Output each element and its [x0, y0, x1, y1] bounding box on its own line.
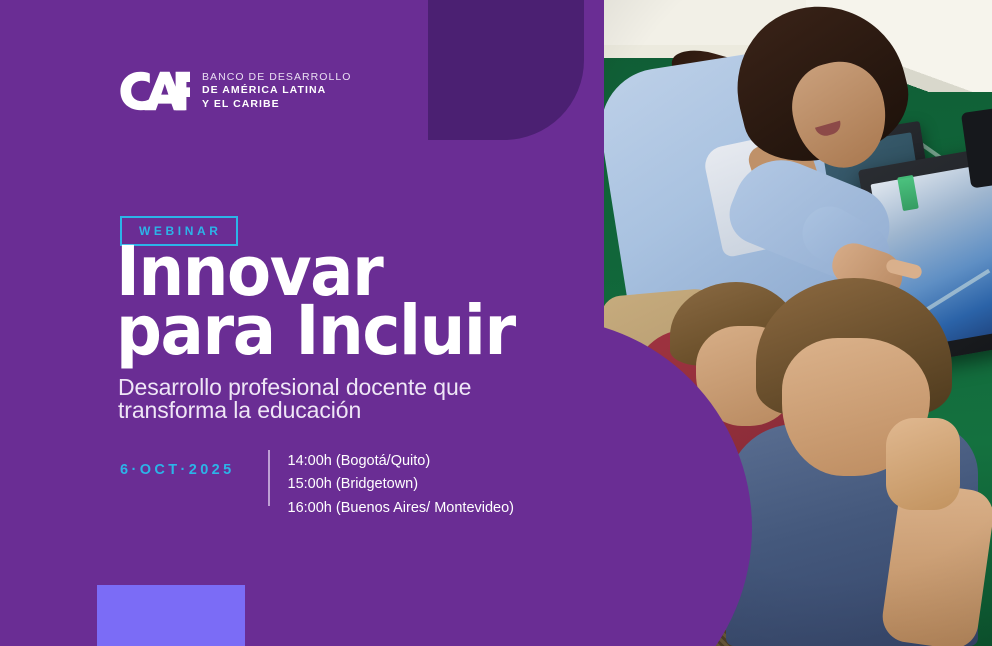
caf-logo-line-2: DE AMÉRICA LATINA — [202, 84, 351, 97]
webinar-promo-banner: BANCO DE DESARROLLO DE AMÉRICA LATINA Y … — [0, 0, 992, 646]
caf-logo-text: BANCO DE DESARROLLO DE AMÉRICA LATINA Y … — [202, 71, 351, 111]
page-title: Innovar para Incluir — [116, 243, 515, 362]
subtitle-line-2: transforma la educación — [118, 399, 471, 422]
subtitle-line-1: Desarrollo profesional docente que — [118, 376, 471, 399]
event-date: 6·OCT·2025 — [120, 450, 268, 478]
caf-logo-line-3: Y EL CARIBE — [202, 98, 351, 111]
timezone-list: 14:00h (Bogotá/Quito) 15:00h (Bridgetown… — [288, 450, 515, 520]
decorative-shape-periwinkle — [97, 585, 245, 646]
timezone-line-1: 14:00h (Bogotá/Quito) — [288, 450, 515, 473]
timezone-line-3: 16:00h (Buenos Aires/ Montevideo) — [288, 497, 515, 520]
caf-logo: BANCO DE DESARROLLO DE AMÉRICA LATINA Y … — [118, 70, 351, 112]
title-line-2: para Incluir — [116, 302, 515, 361]
caf-logo-line-1: BANCO DE DESARROLLO — [202, 71, 351, 84]
classroom-photo — [604, 0, 992, 646]
decorative-shape-dark-purple — [428, 0, 584, 140]
caf-logo-icon — [118, 70, 190, 112]
timezone-line-2: 15:00h (Bridgetown) — [288, 473, 515, 496]
schedule-divider — [268, 450, 270, 506]
page-subtitle: Desarrollo profesional docente que trans… — [118, 376, 471, 423]
schedule-block: 6·OCT·2025 14:00h (Bogotá/Quito) 15:00h … — [120, 450, 514, 520]
